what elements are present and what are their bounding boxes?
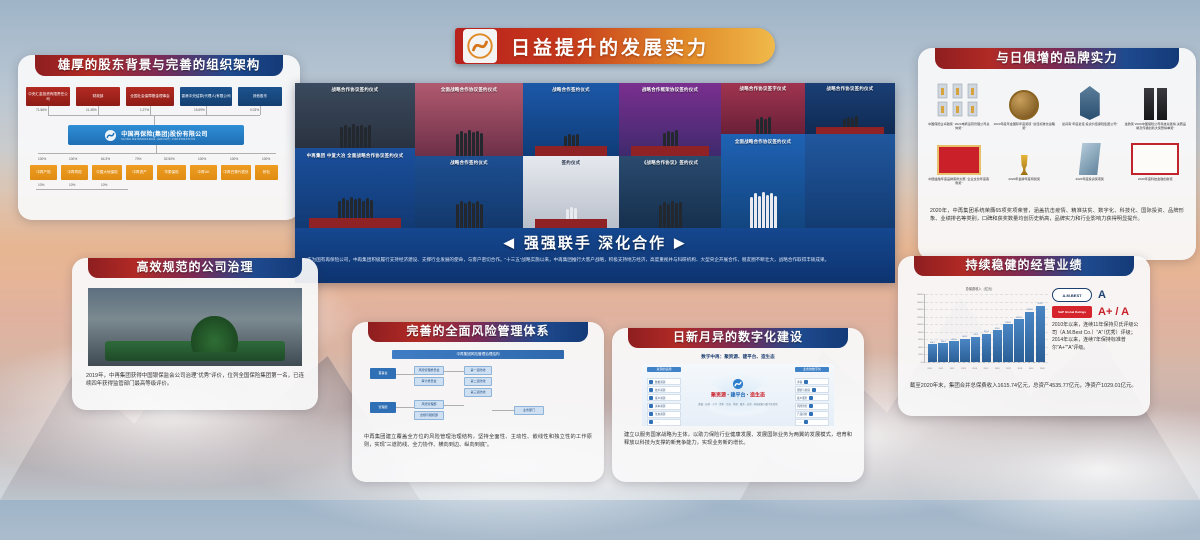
collage-photo: 签约仪式	[523, 156, 619, 229]
collage-photo: 战略合作协议签字仪式	[721, 83, 805, 134]
photo-desk	[631, 146, 709, 155]
risk-node: 第二道防线	[464, 377, 492, 386]
section-header-governance: 高效规范的公司治理	[88, 258, 302, 278]
award-dark-plaque-icon	[1125, 80, 1187, 120]
photo-caption: 全面战略合作协议签约仪式	[721, 139, 805, 146]
photo-caption: 战略合作框架协议签约仪式	[619, 87, 721, 94]
subsidiary-sub-pct: 10%	[101, 183, 107, 187]
slogan-sep: ·	[727, 393, 729, 399]
chart-bar: 810.4	[982, 294, 992, 362]
award-medal-icon	[994, 80, 1056, 120]
arrow-left-icon: ◀	[504, 235, 516, 251]
award-item: 2020年金牌年度特别奖	[994, 135, 1056, 185]
risk-management-card: 完善的全面风险管理体系 中再集团风险管理治理结构 董事会 风险管理委员会 审计委…	[352, 322, 604, 482]
item-label: ……	[797, 421, 802, 424]
risk-body-text: 中再集团建立覆盖全方位的风险管理治理结构，坚持全面性、主动性、嵌线性和独立性的工…	[364, 434, 592, 450]
photo-caption: 全面战略合作协议签约仪式	[415, 87, 523, 94]
collage-photo: 全面战略合作协议签约仪式	[721, 134, 805, 228]
subsidiary-box: 中再UK	[190, 165, 217, 180]
photo-desk	[816, 127, 884, 134]
subsidiary-sub-pct: 10%	[69, 183, 75, 187]
digital-slogan: 聚资源 · 建平台 · 造生态	[711, 392, 765, 399]
photo-desk	[535, 219, 608, 228]
x-tick-label: 2018	[1015, 368, 1025, 370]
page-title-banner: 日益提升的发展实力	[455, 28, 775, 64]
collage-title-row: ◀ 强强联手 深化合作 ▶	[307, 232, 883, 253]
page-title: 日益提升的发展实力	[511, 33, 709, 60]
bar-rect	[949, 341, 959, 362]
award-label: 最具有“年度最佳 投资价值保险集团公司”	[1059, 122, 1121, 126]
award-item: 金鼎奖“2020中国保险公司科技先锋榜 决赛品牌及传播创新大奖暨榜单奖”	[1125, 80, 1187, 130]
connector-line	[396, 374, 414, 375]
org-chart: 中央汇金投资有限责任公司 财政部 全国社会保障基金理事会 香港中央结算(代理人)…	[24, 83, 294, 214]
shareholder-pct: 71.56%	[36, 108, 47, 112]
shareholder-box: 其他股东	[238, 87, 282, 106]
list-item: 客户资源	[647, 394, 681, 401]
awards-grid: 中国保险业卓越奖 “2020电商运营管理公司总体奖” 2020年度年金国际年度奖…	[928, 80, 1186, 185]
risk-node: 第一道防线	[464, 366, 492, 375]
collage-title: 强强联手 深化合作	[524, 232, 666, 253]
collage-body-text: 作为国有再保险公司，中再集团积极履行支持经济建设、支撑行业发展的使命，与客户密切…	[307, 256, 883, 264]
digital-construction-card: 日新月异的数字化建设 数字中再：聚资源、建平台、造生态 资源的运用 业务的数字化…	[612, 328, 864, 482]
section-header-brand: 与日俱增的品牌实力	[935, 48, 1179, 69]
digital-left-header: 资源的运用	[647, 367, 681, 372]
risk-node: 风险管理部	[414, 400, 444, 409]
collage-photo: 中再集团 中复大冶 全面战略合作协议签约仪式	[295, 148, 415, 228]
digital-diagram: 资源的运用 业务的数字化 数据资源 技术资源 客户资源 资本资源 生态资源 ………	[642, 364, 834, 426]
chart-bars: 508.1540.3600.5663.2730.9810.4920.61080.…	[925, 294, 1048, 362]
governance-photo	[88, 288, 302, 366]
list-item: 技术资源	[647, 386, 681, 393]
innovate-icon	[809, 412, 813, 416]
chart-bar: 540.3	[938, 294, 948, 362]
chart-bar: 920.6	[993, 294, 1003, 362]
x-tick-label: 2014	[970, 368, 980, 370]
photo-caption: 战略合作签约仪式	[415, 160, 523, 167]
risk-node: 风险管理委员会	[414, 366, 444, 375]
subsidiary-pct: 100%	[198, 157, 206, 161]
bank-icon	[804, 380, 808, 384]
rating-value: A+ / A	[1098, 306, 1129, 318]
slogan-part-2: 建平台	[730, 393, 745, 399]
list-item: 理赔与核保	[795, 386, 829, 393]
bar-rect	[982, 334, 992, 362]
claim-icon	[812, 388, 816, 392]
ambest-logo: A.M.BEST	[1052, 288, 1092, 302]
award-label: 2020年度年金国际年度奖项 “最佳标准化战略奖”	[994, 122, 1056, 130]
shield-icon	[809, 396, 813, 400]
item-label: 资本资源	[655, 404, 665, 408]
users-icon	[649, 396, 653, 400]
subsidiary-pct: 64.3%	[101, 157, 110, 161]
x-tick-label: 2013	[958, 368, 968, 370]
award-item: 2020年度投资奖项奖	[1059, 135, 1121, 185]
governance-card: 高效规范的公司治理 2019年，中再集团获得中国银保监会公司治理“优秀”评价，位…	[72, 258, 318, 410]
collage-footer: ◀ 强强联手 深化合作 ▶ 作为国有再保险公司，中再集团积极履行支持经济建设、支…	[295, 228, 895, 283]
award-item: 最具有“年度最佳 投资价值保险集团公司”	[1059, 80, 1121, 130]
risk-structure-diagram: 董事会 风险管理委员会 审计委员会 第一道防线 第二道防线 第三道防线 管理层 …	[366, 362, 590, 430]
award-label: 2020年金牌年度特别奖	[994, 177, 1056, 181]
governance-body-text: 2019年，中再集团获得中国银保监会公司治理“优秀”评价，位列全国保险集团第一名…	[86, 372, 304, 388]
award-label: 中国保险业卓越奖 “2020电商运营管理公司总体奖”	[928, 122, 990, 130]
connector-line	[36, 189, 128, 190]
main-company-name-cn: 中国再保险(集团)股份有限公司	[121, 129, 208, 138]
connector-line	[396, 407, 414, 408]
shareholder-box: 财政部	[76, 87, 120, 106]
bar-rect	[1036, 306, 1046, 362]
x-tick-label: 2011	[936, 368, 946, 370]
subsidiary-pct: 100%	[69, 157, 77, 161]
award-plaque-icon	[1059, 80, 1121, 120]
photo-people	[415, 195, 523, 228]
bar-rect	[1003, 324, 1013, 362]
award-label: 2020年度投资奖项奖	[1059, 177, 1121, 181]
y-tick-label: 1000.0	[917, 324, 924, 326]
photo-caption: 签约仪式	[523, 160, 619, 167]
y-tick-label: 1600.0	[917, 302, 924, 304]
y-tick-label: 1800.0	[917, 294, 924, 296]
collage-photo: 战略合作签约仪式	[415, 156, 523, 229]
subsidiary-pct: 52.50%	[164, 157, 175, 161]
brand-strength-card: 与日俱增的品牌实力 中国保险业卓越奖 “2020电商运营管理公司总体奖”	[918, 48, 1196, 260]
list-item: 产品创新	[795, 411, 829, 418]
photo-people	[721, 110, 805, 133]
digital-right-header: 业务的数字化	[795, 367, 829, 372]
subsidiary-box: 中国大地保险	[92, 165, 122, 180]
photo-people	[295, 118, 415, 148]
digital-left-list: 数据资源 技术资源 客户资源 资本资源 生态资源 ……	[647, 378, 681, 427]
risk-node: 董事会	[370, 368, 396, 379]
list-item: 资本资源	[647, 403, 681, 410]
award-item: 中国金融年度品牌案例大赛 “企业文化年度案例奖”	[928, 135, 990, 185]
coin-icon	[649, 404, 653, 408]
connector-line	[150, 106, 151, 115]
shareholder-box: 中央汇金投资有限责任公司	[26, 87, 70, 106]
subsidiary-sub-pct: 10%	[38, 183, 44, 187]
item-label: 理赔与核保	[797, 388, 810, 392]
risk-node: 业务部门	[514, 406, 544, 415]
bar-rect	[960, 339, 970, 362]
award-item: 中国保险业卓越奖 “2020电商运营管理公司总体奖”	[928, 80, 990, 130]
credit-ratings: A.M.BEST A S&P Global Ratings A+ / A 201…	[1052, 288, 1140, 352]
bar-rect	[928, 344, 938, 362]
list-item: 风险管控	[795, 403, 829, 410]
item-label: 生态资源	[655, 412, 665, 416]
bar-rect	[971, 337, 981, 362]
center-logo-icon	[732, 378, 744, 390]
y-tick-label: 600.0	[918, 339, 923, 341]
slogan-part-3: 造生态	[750, 393, 765, 399]
chart-x-labels: 2010201120122013201420152016201720182019…	[924, 368, 1048, 370]
plant-decoration	[191, 316, 238, 352]
digital-subtitle: 数字中再：聚资源、建平台、造生态	[612, 354, 864, 360]
list-item: 生态资源	[647, 411, 681, 418]
award-glass-trophy-icon	[1059, 135, 1121, 175]
y-tick-label: 1200.0	[917, 317, 924, 319]
award-gold-trophy-icon	[994, 135, 1056, 175]
gear-icon	[649, 388, 653, 392]
rating-row: A.M.BEST A	[1052, 288, 1140, 302]
item-label: 客户资源	[655, 396, 665, 400]
chart-bar: 1080.2	[1003, 294, 1013, 362]
slogan-sep: ·	[747, 393, 749, 399]
subsidiary-box: 桥社	[255, 165, 278, 180]
rating-row: S&P Global Ratings A+ / A	[1052, 306, 1140, 318]
chart-bar: 663.2	[960, 294, 970, 362]
list-item: ……	[647, 419, 681, 426]
award-item: 2020年度科技金融创新奖	[1125, 135, 1187, 185]
company-logo	[463, 29, 497, 63]
arrow-right-icon: ▶	[674, 235, 686, 251]
chart-bar: 1615.7	[1036, 294, 1046, 362]
more-icon	[649, 420, 653, 424]
award-label: 金鼎奖“2020中国保险公司科技先锋榜 决赛品牌及传播创新大奖暨榜单奖”	[1125, 122, 1187, 130]
shareholder-box: 全国社会保障基金理事会	[126, 87, 174, 106]
shareholder-pct: 1.27%	[140, 108, 149, 112]
digital-right-list: 承保 理赔与核保 客户服务 风险管控 产品创新 ……	[795, 378, 829, 427]
shareholder-pct: 11.45%	[86, 108, 97, 112]
item-label: 技术资源	[655, 388, 665, 392]
photo-caption: 战略合作协议签字仪式	[721, 86, 805, 93]
award-label: 中国金融年度品牌案例大赛 “企业文化年度案例奖”	[928, 177, 990, 185]
slogan-part-1: 聚资源	[711, 393, 726, 399]
risk-node: 合规与稽核部	[414, 411, 444, 420]
connector-line	[98, 106, 99, 115]
connector-line	[444, 405, 464, 406]
collage-photo	[805, 134, 895, 228]
subsidiary-pct: 100%	[230, 157, 238, 161]
subsidiary-box: 中再产险	[30, 165, 57, 180]
main-company-box: 中国再保险(集团)股份有限公司 CHINA REINSURANCE (GROUP…	[68, 125, 244, 145]
connector-line	[206, 106, 207, 115]
x-tick-label: 2019	[1026, 368, 1036, 370]
sp-global-logo: S&P Global Ratings	[1052, 306, 1092, 318]
photo-grid: 战略合作协议签约仪式 中再集团 中复大冶 全面战略合作协议签约仪式 全面战略合作…	[295, 83, 895, 228]
connector-line	[444, 371, 464, 372]
subsidiary-box: 中再资产	[126, 165, 153, 180]
chart-bar: 730.9	[971, 294, 981, 362]
risk-node: 管理层	[370, 402, 396, 413]
bar-rect	[1014, 319, 1024, 362]
subsidiary-pct: 70%	[135, 157, 141, 161]
rating-value: A	[1098, 289, 1106, 301]
item-label: 承保	[797, 380, 802, 384]
performance-card: 持续稳健的经营业绩 总保费收入（亿元） 1800.0 1600.0 1400.0…	[898, 256, 1150, 416]
photo-caption: 《战略合作协议》签约仪式	[619, 160, 721, 167]
section-header-org: 雄厚的股东背景与完善的组织架构	[35, 55, 283, 76]
y-tick-label: 800.0	[918, 332, 923, 334]
photo-people	[415, 122, 523, 155]
award-trophies-icon	[928, 80, 990, 120]
risk-node: 第三道防线	[464, 388, 492, 397]
shareholder-structure-card: 雄厚的股东背景与完善的组织架构 中央汇金投资有限责任公司 财政部 全国社会保障基…	[18, 55, 300, 220]
x-tick-label: 2012	[947, 368, 957, 370]
connector-line	[260, 106, 261, 115]
shareholder-box: 香港中央结算(代理人)有限公司	[180, 87, 232, 106]
photo-desk	[309, 218, 400, 228]
item-label: 客户服务	[797, 396, 807, 400]
connector-line	[48, 106, 49, 115]
subsidiary-box: 中再巴黎代表处	[221, 165, 251, 180]
performance-body-text: 截至2020年末，集团合并总保费收入1615.74亿元，总资产4535.77亿元…	[910, 382, 1138, 390]
item-label: ……	[655, 421, 660, 424]
rating-description: 2010年以来，连续11年保持贝氏评级公司（A.M.Best Co.）“A”（优…	[1052, 322, 1140, 352]
chart-title: 总保费收入（亿元）	[910, 286, 1050, 291]
collage-photo: 全面战略合作协议签约仪式	[415, 83, 523, 156]
item-label: 产品创新	[797, 412, 807, 416]
photo-caption: 战略合作协议签约仪式	[805, 86, 895, 93]
award-label: 2020年度科技金融创新奖	[1125, 177, 1187, 181]
photo-caption: 战略合作协议签约仪式	[295, 87, 415, 94]
section-header-risk: 完善的全面风险管理体系	[368, 322, 588, 342]
chart-plot-area: 1800.0 1600.0 1400.0 1200.0 1000.0 800.0…	[924, 294, 1048, 363]
x-tick-label: 2017	[1004, 368, 1014, 370]
subsidiary-pct: 100%	[262, 157, 270, 161]
risk-icon	[809, 404, 813, 408]
x-tick-label: 2016	[992, 368, 1002, 370]
collage-photo: 《战略合作协议》签约仪式	[619, 156, 721, 229]
connector-line	[492, 410, 514, 411]
chart-bar: 1442.8	[1025, 294, 1035, 362]
main-company-name-en: CHINA REINSURANCE (GROUP) CORPORATION	[121, 138, 208, 141]
subsidiary-box: 中再寿险	[61, 165, 88, 180]
circle-swirl-icon	[467, 33, 493, 59]
photo-people	[619, 195, 721, 228]
premium-income-chart: 总保费收入（亿元） 1800.0 1600.0 1400.0 1200.0 10…	[910, 286, 1050, 372]
list-item: ……	[795, 419, 829, 426]
list-item: 客户服务	[795, 394, 829, 401]
y-tick-label: 0.0	[921, 362, 924, 364]
y-tick-label: 400.0	[918, 347, 923, 349]
shareholder-pct: 0.03%	[250, 108, 259, 112]
brand-body-text: 2020年，中再集团系统荣膺65项奖项荣誉，涵盖抗击疫情、精准扶贫、数字化、科技…	[930, 208, 1184, 224]
collage-photo: 战略合作协议签约仪式	[295, 83, 415, 148]
bar-rect	[1025, 312, 1035, 362]
gridline: 0.0	[925, 362, 1048, 363]
section-header-digital: 日新月异的数字化建设	[628, 328, 848, 348]
collage-photo: 战略合作框架协议签约仪式	[619, 83, 721, 156]
x-tick-label: 2015	[981, 368, 991, 370]
photo-caption: 中再集团 中复大冶 全面战略合作协议签约仪式	[295, 153, 415, 160]
data-icon	[649, 380, 653, 384]
more-icon	[804, 420, 808, 424]
award-item: 2020年度年金国际年度奖项 “最佳标准化战略奖”	[994, 80, 1056, 130]
chart-bar: 600.5	[949, 294, 959, 362]
collage-photo: 战略合作协议签约仪式	[805, 83, 895, 134]
connector-line	[156, 145, 157, 153]
award-certificate-red-icon	[928, 135, 990, 175]
x-tick-label: 2010	[925, 368, 935, 370]
network-icon	[649, 412, 653, 416]
list-item: 数据资源	[647, 378, 681, 385]
x-tick-label: 2020	[1037, 368, 1047, 370]
item-label: 风险管控	[797, 404, 807, 408]
subsidiary-pct: 100%	[38, 157, 46, 161]
digital-slogan-note: 数据 · 技术 · 人才 · 资本 · 生态 · 场景 · 服务 · 应用 · …	[698, 402, 777, 406]
list-item: 承保	[795, 378, 829, 385]
y-tick-label: 200.0	[918, 354, 923, 356]
y-tick-label: 1400.0	[917, 309, 924, 311]
bar-rect	[993, 330, 1003, 362]
section-header-performance: 持续稳健的经营业绩	[914, 256, 1134, 276]
photo-desk	[535, 146, 608, 155]
photo-people	[721, 185, 805, 228]
chart-bar: 1223.5	[1014, 294, 1024, 362]
collage-photo: 战略合作签约仪式	[523, 83, 619, 156]
digital-body-text: 建立以服务国家战略为主体，以助力保险行业健康发展、发展国际业务为两翼的发展模式，…	[624, 432, 852, 448]
award-certificate-white-icon	[1125, 135, 1187, 175]
item-label: 数据资源	[655, 380, 665, 384]
connector-line	[154, 115, 155, 125]
risk-node: 审计委员会	[414, 377, 444, 386]
photo-caption: 战略合作签约仪式	[523, 87, 619, 94]
company-logo-icon	[104, 129, 117, 142]
subsidiary-box: 华泰保险	[157, 165, 186, 180]
connector-line	[38, 153, 276, 154]
shareholder-pct: 15.69%	[194, 108, 205, 112]
risk-diagram-subtitle: 中再集团风险管理治理结构	[392, 350, 564, 359]
bar-rect	[938, 343, 948, 362]
chart-bar: 508.1	[928, 294, 938, 362]
partnership-collage: 战略合作协议签约仪式 中再集团 中复大冶 全面战略合作协议签约仪式 全面战略合作…	[295, 83, 895, 283]
